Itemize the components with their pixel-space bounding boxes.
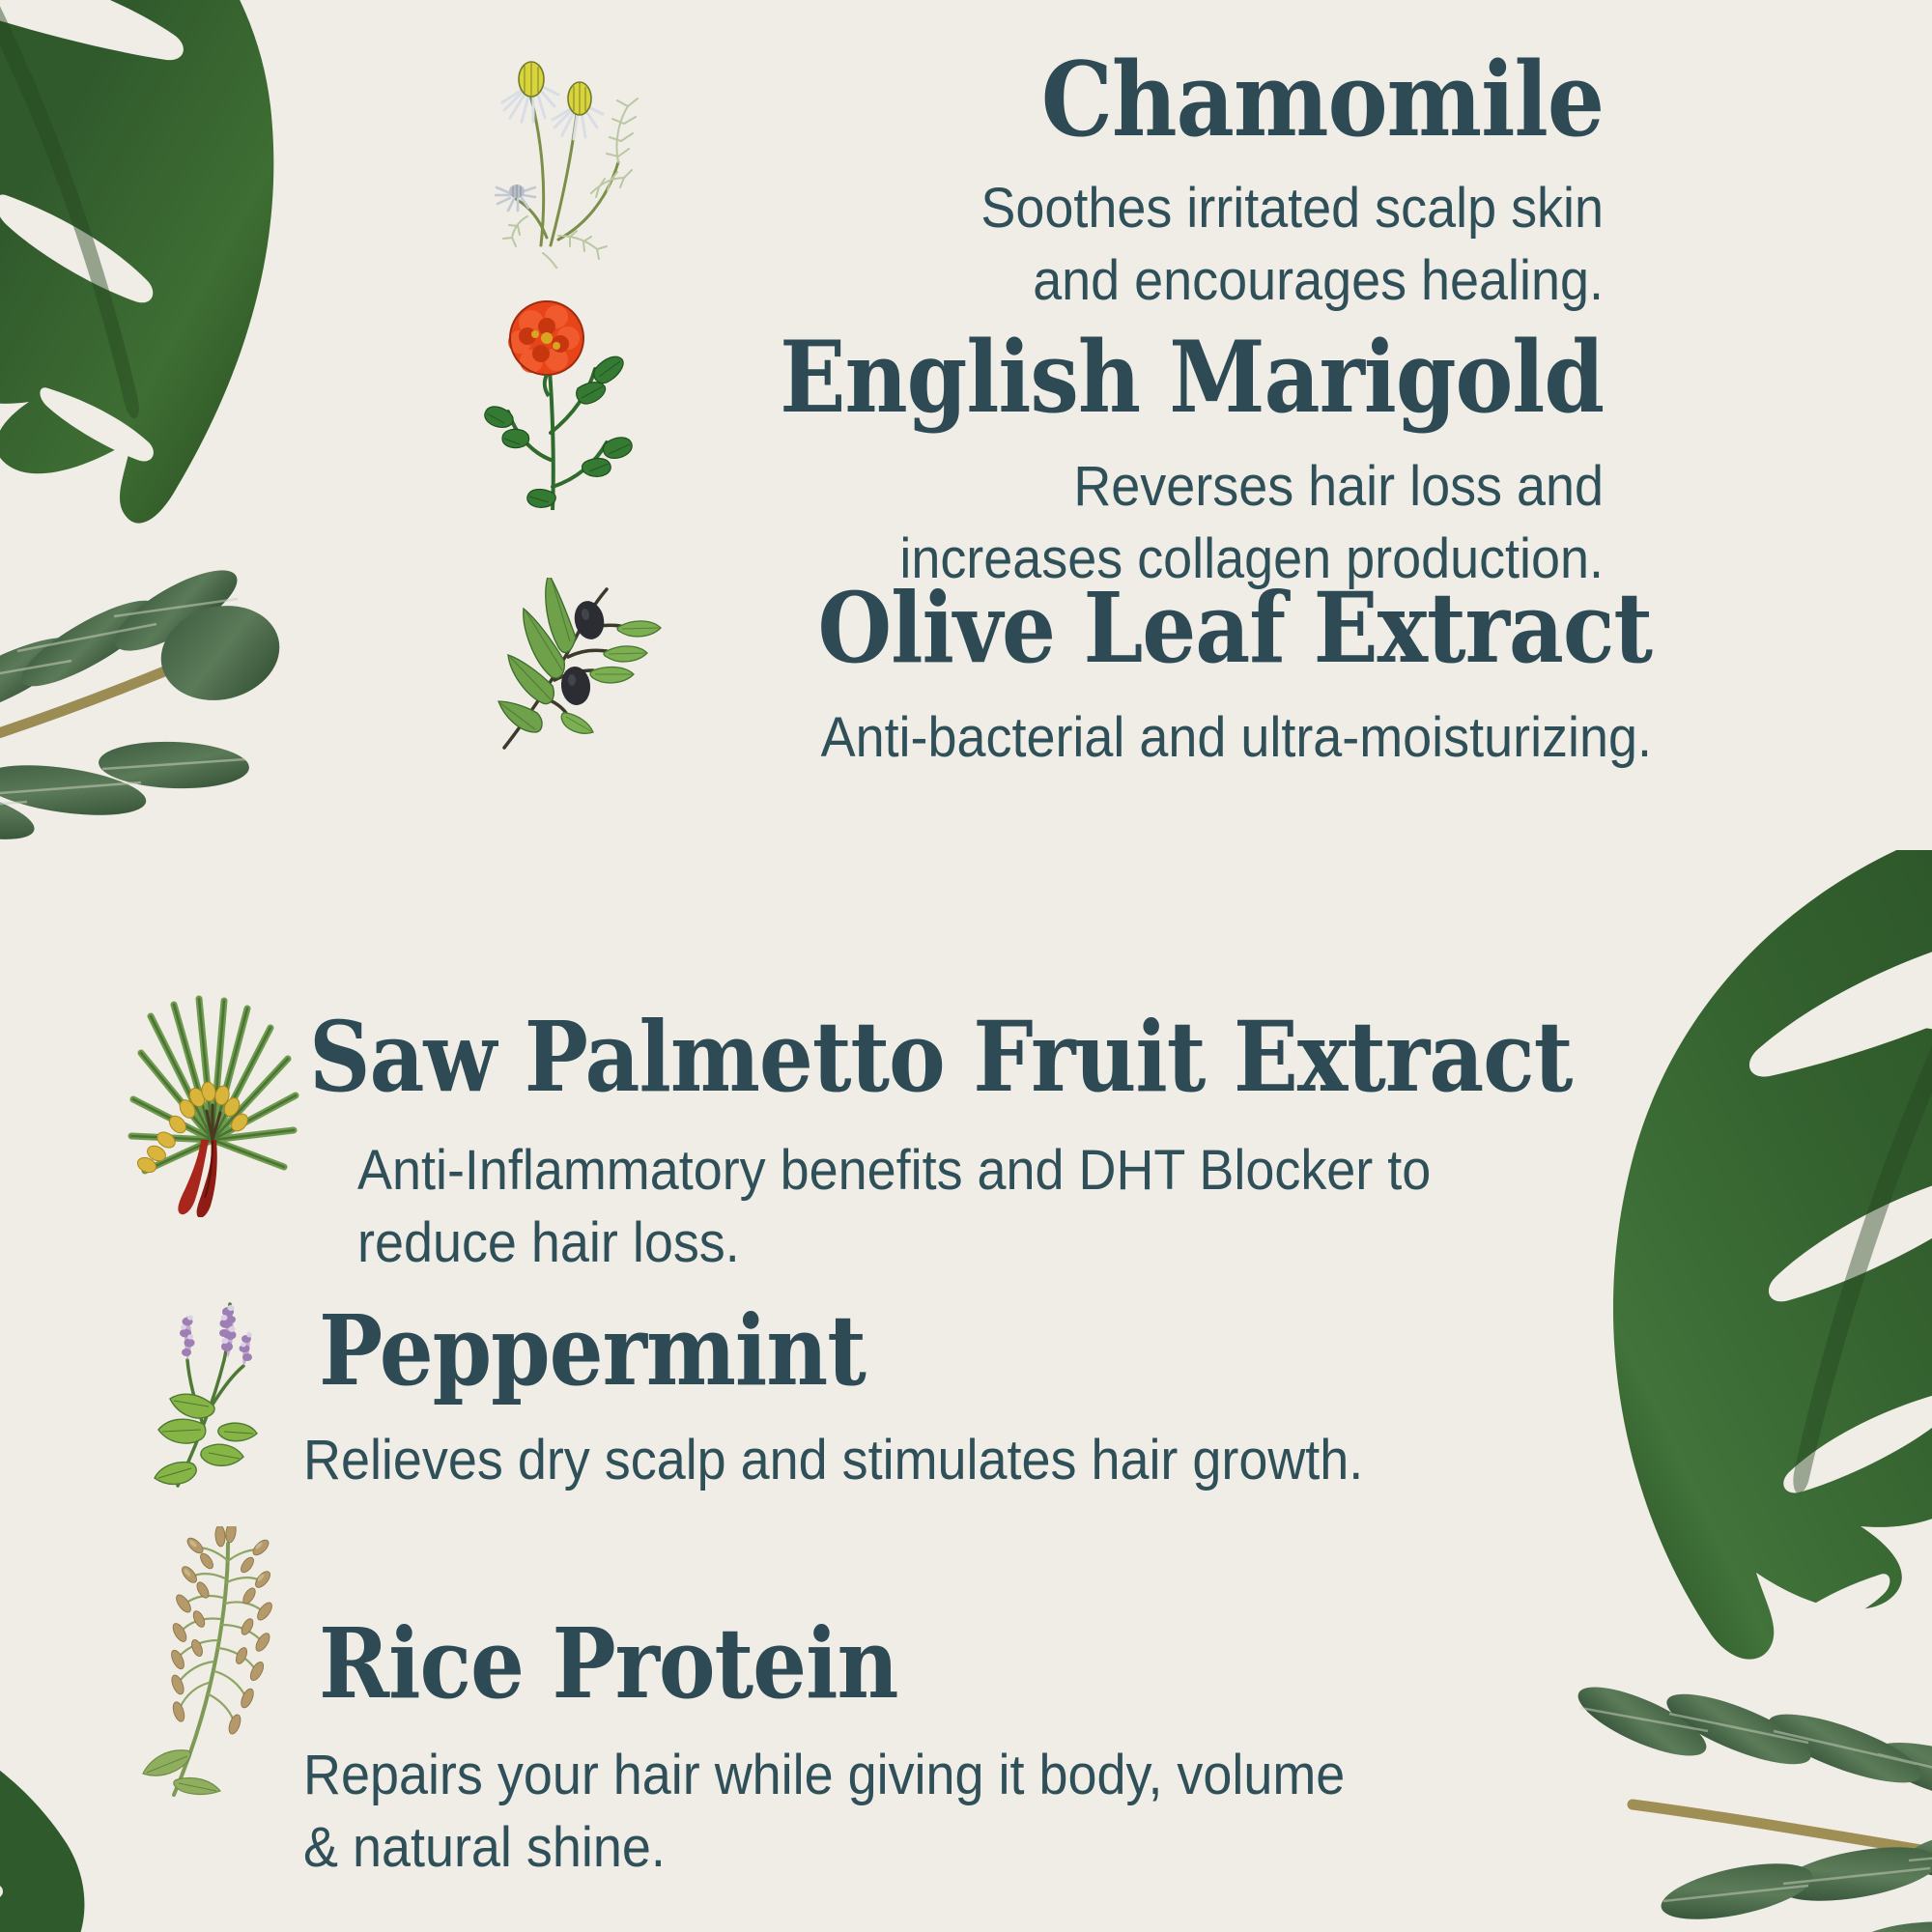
ingredients-poster: Chamomile Soothes irritated scalp skin a… [0,0,1932,1932]
ingredient-heading: Rice Protein [319,1615,1424,1712]
marigold-bloom [508,301,583,375]
marigold-text: English Marigold Reverses hair loss and … [580,328,1604,596]
ingredient-row-peppermint: Peppermint Relieves dry scalp and stimul… [0,1273,1835,1515]
ingredient-heading: English Marigold [702,328,1604,427]
peppermint-flower-spikes [180,1304,252,1366]
saw-palmetto-text: Saw Palmetto Fruit Extract Anti-Inflamma… [309,1009,1565,1280]
ingredient-description: Anti-Inflammatory benefits and DHT Block… [357,1134,1463,1280]
peppermint-illustration [143,1287,307,1490]
chamomile-flower-1 [502,62,558,122]
ingredient-heading: Chamomile [736,48,1604,151]
peppermint-text: Peppermint Relieves dry scalp and stimul… [319,1302,1575,1496]
olive-text: Olive Leaf Extract Anti-bacterial and ul… [580,580,1652,774]
ingredient-heading: Olive Leaf Extract [708,580,1652,676]
chamomile-text: Chamomile Soothes irritated scalp skin a… [618,48,1604,318]
ingredient-heading: Saw Palmetto Fruit Extract [309,1009,1414,1105]
ingredient-description: Anti-bacterial and ultra-moisturizing. [655,701,1652,774]
ingredient-description: Repairs your hair while giving it body, … [303,1739,1363,1885]
ingredient-row-olive-leaf-extract: Olive Leaf Extract Anti-bacterial and ul… [0,560,1642,782]
ingredient-row-saw-palmetto-fruit-extract: Saw Palmetto Fruit Extract Anti-Inflamma… [0,995,1835,1285]
ingredient-row-rice-protein: Rice Protein Repairs your hair while giv… [0,1526,1835,1835]
ingredient-description: Relieves dry scalp and stimulates hair g… [303,1424,1486,1496]
ingredient-row-chamomile: Chamomile Soothes irritated scalp skin a… [0,29,1642,309]
chamomile-flower-2 [553,82,603,139]
ingredient-row-english-marigold: English Marigold Reverses hair loss and … [0,288,1642,568]
ingredient-list: Chamomile Soothes irritated scalp skin a… [0,0,1932,1932]
rice-stalk-illustration [135,1526,309,1797]
chamomile-bud [496,185,535,211]
saw-palmetto-illustration [124,995,307,1217]
rice-protein-text: Rice Protein Repairs your hair while giv… [319,1615,1575,1885]
ingredient-heading: Peppermint [319,1302,1424,1399]
